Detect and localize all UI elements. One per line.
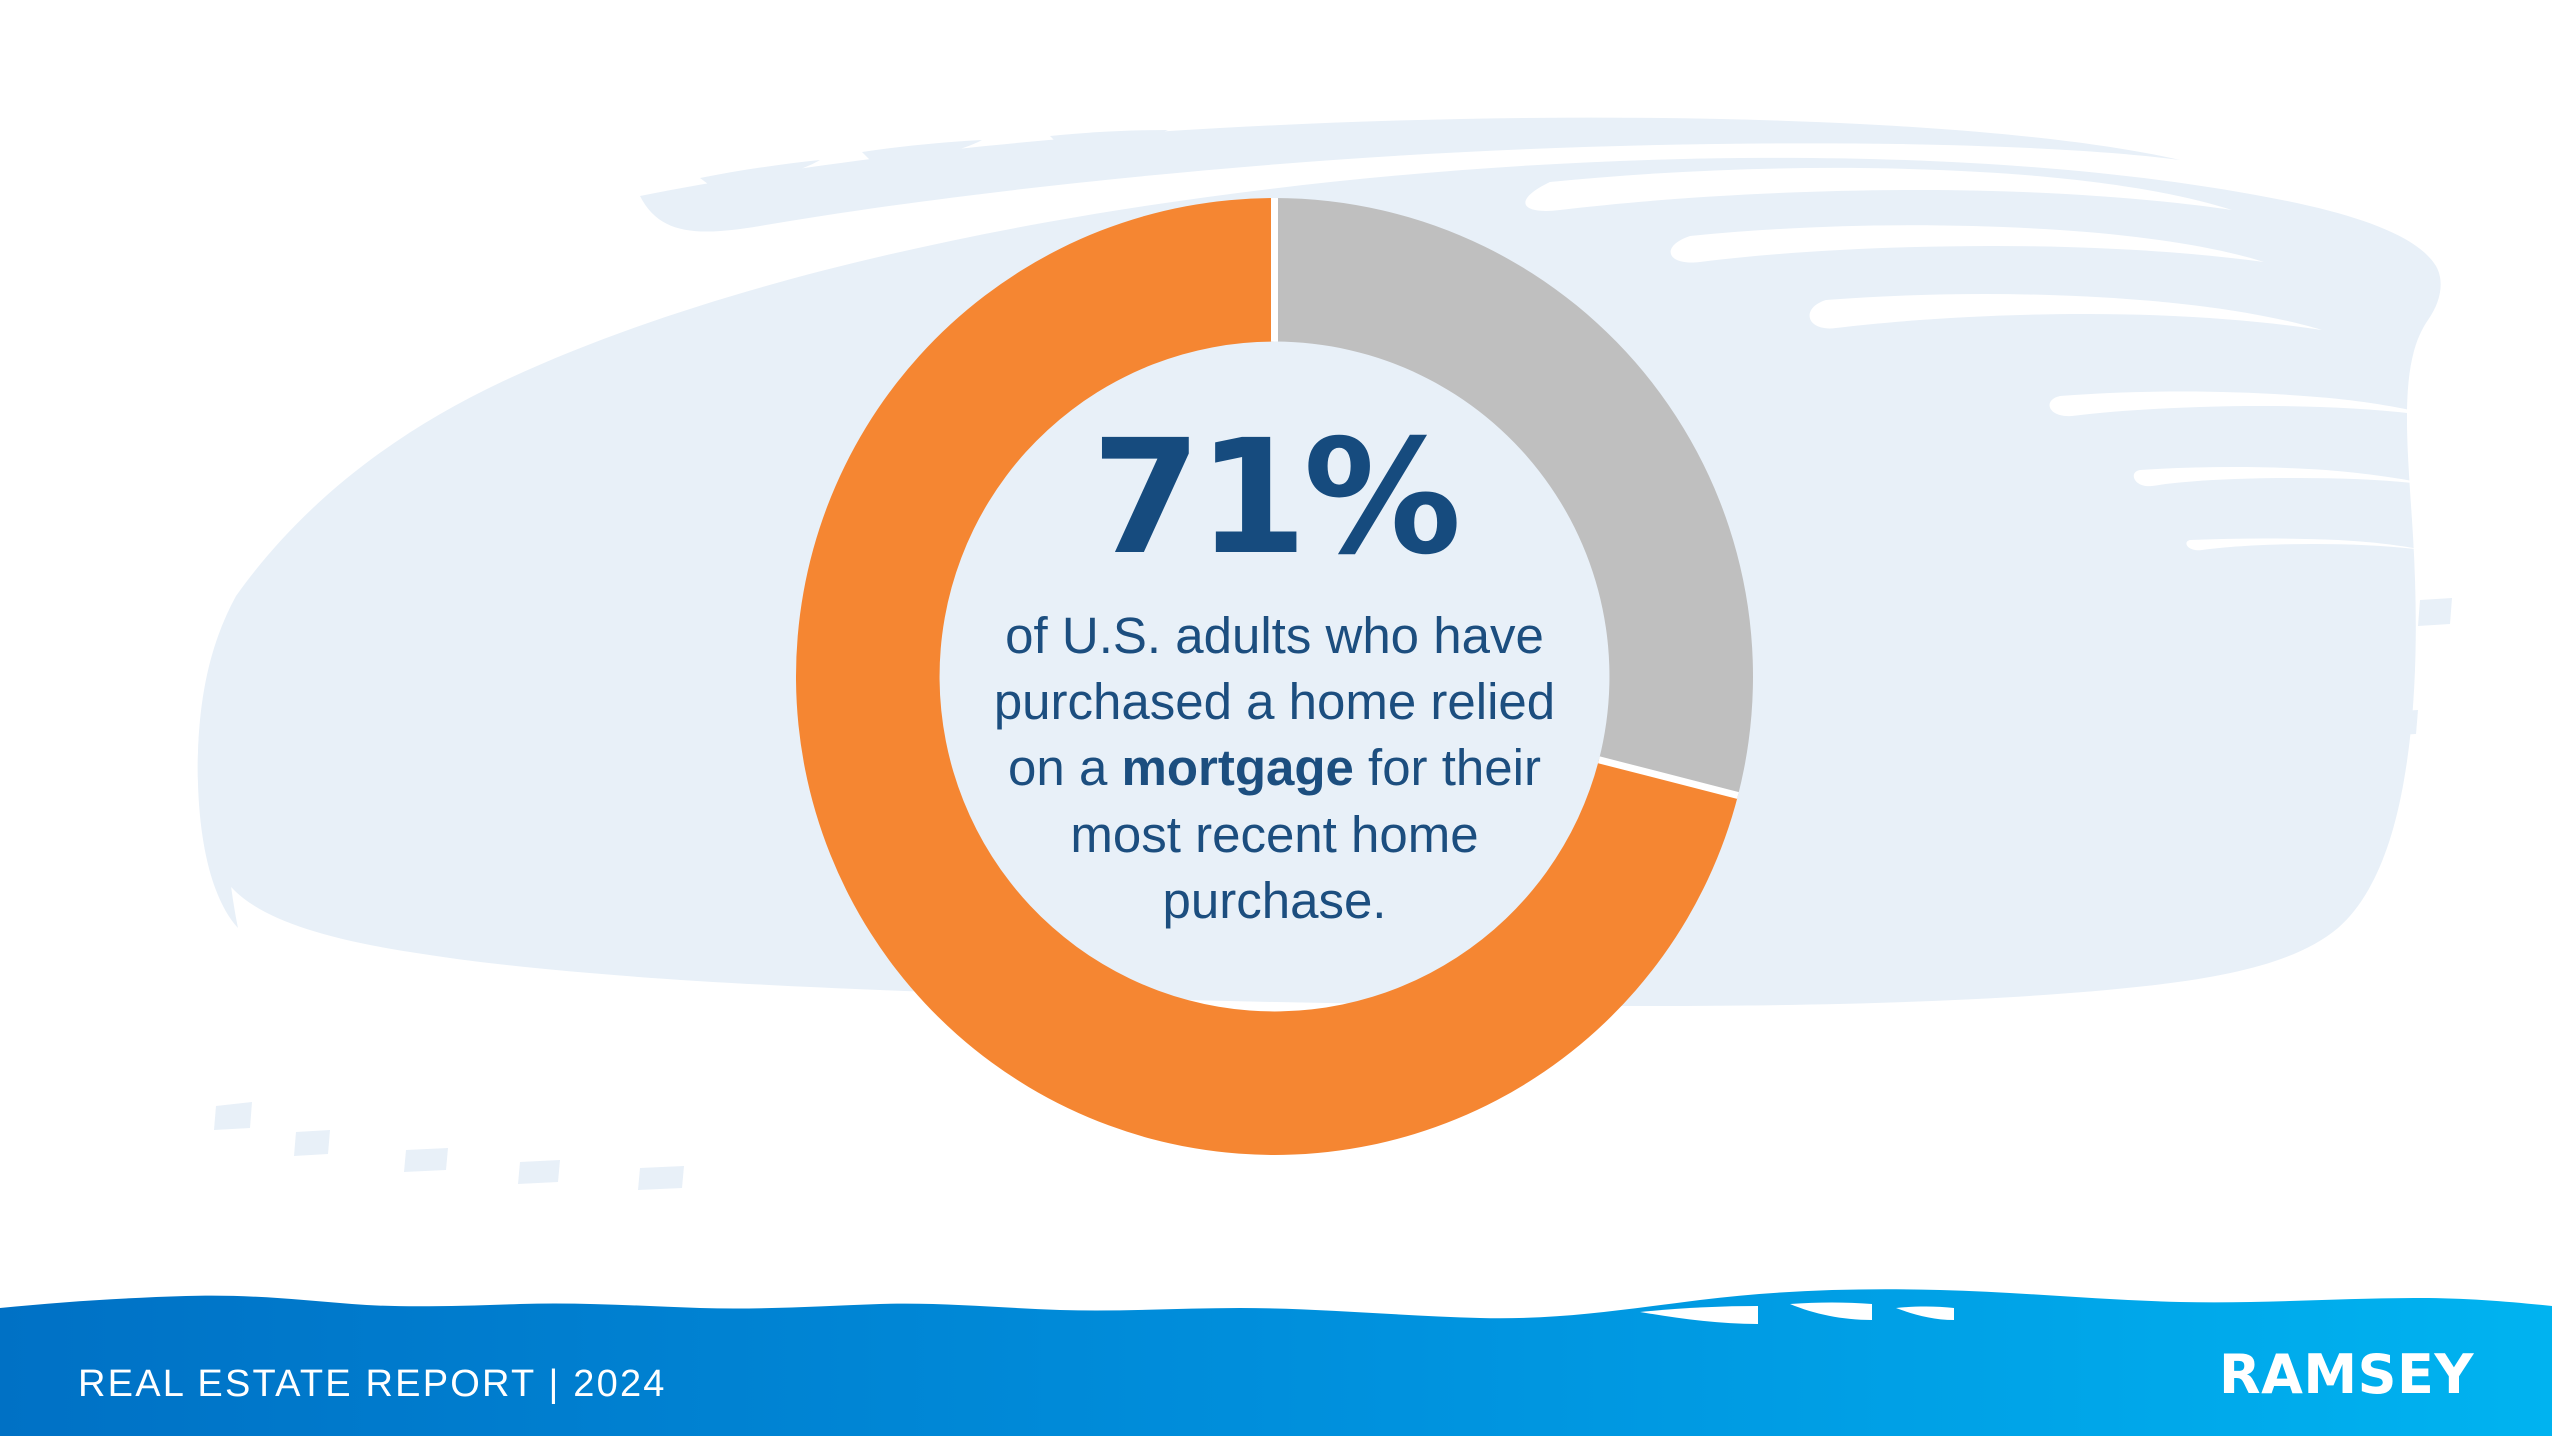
stat-description-line-3-pre: on a [1008,739,1121,796]
stat-description-line-3-post: for their [1354,739,1541,796]
stat-description-line-1: of U.S. adults who have [1005,607,1544,664]
stat-percentage: 71% [1091,419,1457,577]
ramsey-logo: RAMSEY [2219,1343,2474,1406]
donut-chart: 71% of U.S. adults who have purchased a … [796,198,1753,1155]
stat-description-line-4: most recent home [1070,806,1478,863]
footer-content: REAL ESTATE REPORT | 2024 RAMSEY [0,1286,2552,1436]
footer-bar: REAL ESTATE REPORT | 2024 RAMSEY [0,1286,2552,1436]
slide-canvas: 71% of U.S. adults who have purchased a … [0,0,2552,1436]
stat-description-highlight: mortgage [1121,739,1353,796]
stat-description-line-5: purchase. [1163,872,1387,929]
donut-center-label: 71% of U.S. adults who have purchased a … [940,342,1609,1011]
stat-description: of U.S. adults who have purchased a home… [975,603,1575,934]
stat-description-line-2: purchased a home relied [994,673,1555,730]
report-label: REAL ESTATE REPORT | 2024 [78,1363,667,1406]
